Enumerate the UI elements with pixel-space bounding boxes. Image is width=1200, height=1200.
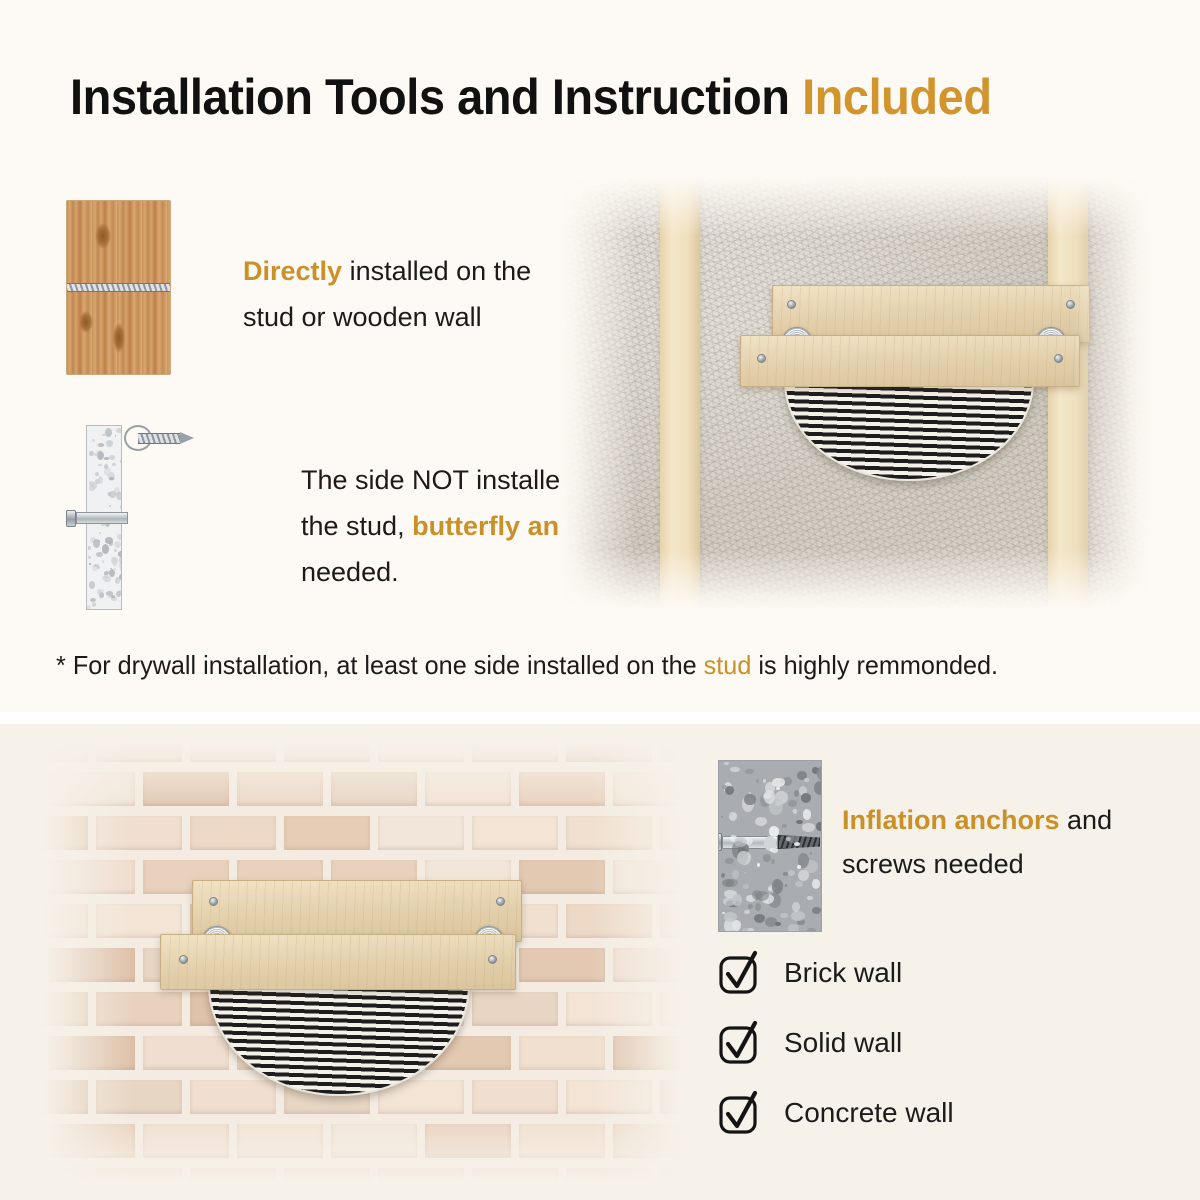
- brick: [42, 904, 88, 938]
- hammock-front-board: [160, 934, 516, 990]
- brick: [566, 992, 652, 1026]
- concrete-aggregate: [755, 903, 761, 911]
- board-screw: [757, 354, 766, 363]
- brick: [613, 948, 682, 982]
- drywall-speckle: [102, 434, 106, 437]
- brick: [566, 904, 652, 938]
- drywall-speckle: [115, 435, 117, 437]
- concrete-aggregate: [724, 762, 729, 765]
- concrete-aggregate: [725, 858, 734, 864]
- checkbox-checked-icon[interactable]: [718, 951, 762, 995]
- board-screw: [179, 955, 188, 964]
- section-divider: [0, 712, 1200, 724]
- brick: [519, 772, 605, 806]
- screw-thread: [138, 433, 180, 444]
- drywall-speckle: [109, 569, 115, 577]
- concrete-aggregate: [791, 911, 805, 921]
- drywall-speckle: [98, 464, 102, 467]
- concrete-aggregate: [785, 884, 788, 887]
- screw-tip: [180, 432, 194, 444]
- checklist-item-label: Brick wall: [784, 957, 902, 989]
- brick: [49, 1124, 135, 1158]
- hammock-fabric: [208, 984, 470, 1096]
- concrete-aggregate: [732, 870, 739, 879]
- brick: [237, 1124, 323, 1158]
- drywall-speckle: [117, 534, 123, 540]
- concrete-aggregate: [729, 813, 733, 815]
- concrete-aggregate: [783, 777, 792, 786]
- anchor-sleeve: [76, 512, 128, 524]
- brick: [472, 816, 558, 850]
- page-title: Installation Tools and Instruction Inclu…: [70, 68, 1076, 126]
- brick: [519, 860, 605, 894]
- brick: [566, 816, 652, 850]
- concrete-aggregate: [743, 884, 749, 889]
- concrete-aggregate: [796, 820, 803, 824]
- bullet-direct-stud-text: Directly installed on the stud or wooden…: [243, 248, 573, 340]
- concrete-aggregate: [812, 907, 821, 915]
- brick: [284, 816, 370, 850]
- drywall-speckle: [106, 440, 113, 447]
- brick: [472, 742, 558, 762]
- board-screw: [496, 897, 505, 906]
- concrete-aggregate: [772, 879, 783, 894]
- drywall-speckle: [89, 563, 91, 565]
- board-screw: [488, 955, 497, 964]
- drywall-speckle: [120, 460, 122, 463]
- concrete-expansion-anchor-icon: [718, 760, 822, 932]
- brick: [613, 1036, 682, 1070]
- brick: [49, 1036, 135, 1070]
- drywall-speckle: [105, 428, 112, 437]
- drywall-speckle: [94, 564, 99, 567]
- concrete-aggregate: [788, 924, 800, 932]
- drywall-speckle: [121, 577, 122, 579]
- concrete-aggregate: [807, 896, 812, 900]
- concrete-aggregate: [805, 928, 818, 932]
- concrete-aggregate: [742, 928, 750, 932]
- checkbox-checked-icon[interactable]: [718, 1021, 762, 1065]
- concrete-aggregate: [803, 809, 811, 819]
- drywall-speckle: [109, 455, 115, 460]
- brick: [143, 772, 229, 806]
- checklist-item-brick-wall[interactable]: Brick wall: [718, 938, 954, 1008]
- drywall-speckle: [114, 568, 116, 570]
- concrete-aggregate: [788, 870, 795, 876]
- wall-type-checklist: Brick wall Solid wall Concrete wall: [718, 938, 954, 1148]
- brick: [519, 1036, 605, 1070]
- screw-thread: [66, 283, 171, 292]
- drywall-speckle: [98, 476, 103, 483]
- concrete-aggregate: [776, 787, 779, 789]
- concrete-aggregate: [797, 865, 801, 869]
- bullet-direct-stud-install: Directly installed on the stud or wooden…: [66, 200, 573, 375]
- drywall-speckle: [97, 451, 104, 460]
- board-screw: [787, 300, 796, 309]
- concrete-aggregate: [810, 852, 812, 855]
- page-title-accent: Included: [802, 69, 991, 125]
- concrete-aggregate: [795, 881, 803, 887]
- brick: [49, 948, 135, 982]
- drywall-speckle: [95, 472, 99, 476]
- drywall-speckle: [110, 568, 112, 569]
- footnote-lead: * For drywall installation, at least one…: [56, 650, 704, 680]
- brick: [613, 772, 682, 806]
- brick: [613, 1124, 682, 1158]
- drywall-speckle: [116, 492, 122, 500]
- brick: [96, 1168, 182, 1182]
- brick: [566, 1080, 652, 1114]
- drywall-speckle: [92, 482, 97, 488]
- concrete-aggregate: [748, 904, 753, 908]
- hammock-fabric: [784, 381, 1034, 481]
- footnote-accent: stud: [704, 650, 752, 680]
- concrete-aggregate: [798, 870, 808, 881]
- drywall-speckle: [116, 591, 121, 597]
- drywall-speckle: [96, 552, 103, 558]
- concrete-aggregate: [788, 800, 797, 807]
- wood-knot-icon: [113, 323, 125, 353]
- brick: [472, 1168, 558, 1182]
- brick: [143, 1124, 229, 1158]
- checklist-item-label: Solid wall: [784, 1027, 902, 1059]
- checklist-item-concrete-wall[interactable]: Concrete wall: [718, 1078, 954, 1148]
- board-screw: [209, 897, 218, 906]
- footnote-tail: is highly remmonded.: [751, 650, 998, 680]
- brick: [42, 1168, 88, 1182]
- hammock-assembly: [740, 285, 1090, 515]
- brick: [378, 816, 464, 850]
- bullet-accent-word: Directly: [243, 256, 342, 286]
- drywall-speckle: [118, 551, 122, 557]
- drywall-speckle: [99, 532, 101, 534]
- brick: [190, 742, 276, 762]
- concrete-aggregate: [725, 786, 734, 795]
- drywall-speckle: [92, 439, 94, 442]
- brick: [237, 772, 323, 806]
- infographic-page: Installation Tools and Instruction Inclu…: [0, 0, 1200, 1200]
- brick: [49, 860, 135, 894]
- concrete-aggregate: [730, 767, 740, 772]
- brick: [566, 742, 652, 762]
- concrete-aggregate: [804, 778, 809, 782]
- concrete-aggregate: [771, 848, 778, 853]
- concrete-aggregate: [783, 872, 787, 876]
- drywall-speckle: [114, 541, 121, 548]
- concrete-aggregate: [814, 781, 822, 795]
- wall-stud-left: [660, 175, 700, 610]
- screw-icon: [66, 279, 171, 295]
- concrete-aggregate: [722, 785, 726, 789]
- concrete-aggregate: [754, 914, 765, 923]
- concrete-aggregate: [744, 794, 755, 805]
- anchor-screw-icon: [138, 431, 194, 445]
- brick: [284, 742, 370, 762]
- brick: [660, 904, 682, 938]
- concrete-aggregate: [780, 913, 788, 918]
- wood-knot-icon: [95, 223, 111, 249]
- concrete-aggregate: [752, 890, 762, 900]
- checklist-item-label: Concrete wall: [784, 1097, 954, 1129]
- brick: [378, 742, 464, 762]
- checklist-item-solid-wall[interactable]: Solid wall: [718, 1008, 954, 1078]
- drywall-butterfly-anchor-icon: [66, 425, 196, 610]
- wood-knot-icon: [79, 311, 93, 333]
- bullet-butterfly-anchor: The side NOT installed on the stud, butt…: [66, 425, 631, 610]
- brick: [284, 1168, 370, 1182]
- brick: [331, 772, 417, 806]
- concrete-aggregate: [721, 816, 723, 818]
- concrete-aggregate: [745, 769, 753, 774]
- brick: [42, 992, 88, 1026]
- concrete-aggregate: [737, 851, 751, 866]
- board-screw: [1054, 354, 1063, 363]
- brick: [613, 860, 682, 894]
- brick: [96, 742, 182, 762]
- drywall-speckle: [112, 463, 116, 466]
- concrete-aggregate: [817, 766, 822, 781]
- bullet-tail-text: needed.: [301, 557, 399, 587]
- brick: [425, 1124, 511, 1158]
- hammock-front-board: [740, 335, 1080, 387]
- drywall-speckle: [88, 556, 91, 559]
- concrete-aggregate: [782, 824, 788, 828]
- drywall-speckle: [93, 539, 100, 548]
- drywall-speckle: [87, 605, 91, 609]
- concrete-aggregate: [812, 879, 820, 889]
- wood-panel-with-screw-icon: [66, 200, 171, 375]
- cat-hammock-on-brick-wall-photo: [42, 742, 682, 1182]
- brick: [566, 1168, 652, 1182]
- drywall-speckle: [105, 537, 112, 544]
- brick: [660, 1168, 682, 1182]
- drywall-speckle: [120, 577, 122, 580]
- brick: [378, 1168, 464, 1182]
- brick: [425, 772, 511, 806]
- brick: [660, 1080, 682, 1114]
- cat-hammock-on-stud-wall-photo: [560, 175, 1150, 610]
- drywall-speckle: [102, 560, 105, 563]
- drywall-speckle: [92, 602, 96, 607]
- concrete-aggregate: [775, 922, 781, 926]
- anchor-bolt-head: [66, 510, 76, 527]
- brick: [660, 742, 682, 762]
- concrete-aggregate: [801, 793, 811, 802]
- drywall-speckle: [116, 428, 122, 433]
- brick: [96, 816, 182, 850]
- brick: [190, 1168, 276, 1182]
- brick: [519, 1124, 605, 1158]
- concrete-aggregate: [757, 863, 760, 867]
- drywall-speckle: [102, 544, 109, 553]
- concrete-note-accent: Inflation anchors: [842, 805, 1060, 835]
- concrete-aggregate: [786, 837, 791, 841]
- checkbox-checked-icon[interactable]: [718, 1091, 762, 1135]
- drywall-speckle: [109, 477, 114, 480]
- drywall-speckle: [115, 577, 120, 584]
- concrete-aggregate: [721, 873, 725, 878]
- concrete-aggregate: [771, 859, 775, 864]
- concrete-aggregate: [756, 779, 759, 784]
- footnote-note: * For drywall installation, at least one…: [56, 650, 1133, 681]
- brick: [660, 992, 682, 1026]
- brick: [42, 742, 88, 762]
- drywall-speckle: [119, 556, 122, 564]
- page-title-main: Installation Tools and Instruction: [70, 69, 802, 125]
- board-screw: [1066, 300, 1075, 309]
- drywall-speckle: [104, 571, 109, 575]
- concrete-aggregate: [802, 823, 815, 832]
- concrete-anchor-note: Inflation anchors and screws needed: [842, 798, 1162, 886]
- concrete-aggregate: [732, 894, 742, 907]
- brick: [190, 816, 276, 850]
- hammock-back-board: [192, 880, 522, 942]
- brick: [49, 772, 135, 806]
- concrete-aggregate: [755, 817, 767, 826]
- brick: [42, 816, 88, 850]
- concrete-aggregate: [763, 854, 770, 863]
- brick: [42, 1080, 88, 1114]
- drywall-speckle: [88, 546, 91, 549]
- concrete-aggregate: [722, 879, 734, 887]
- concrete-aggregate: [772, 778, 785, 788]
- hammock-assembly: [160, 880, 530, 1120]
- drywall-speckle: [114, 549, 118, 552]
- butterfly-anchor-icon: [66, 505, 194, 531]
- brick: [519, 948, 605, 982]
- concrete-aggregate: [793, 809, 798, 814]
- concrete-aggregate: [734, 837, 747, 847]
- brick: [331, 1124, 417, 1158]
- concrete-aggregate: [744, 872, 746, 874]
- drywall-speckle: [111, 597, 116, 600]
- concrete-aggregate: [744, 910, 749, 914]
- concrete-aggregate: [816, 822, 822, 831]
- concrete-aggregate: [763, 779, 767, 783]
- brick: [660, 816, 682, 850]
- concrete-aggregate: [764, 790, 775, 804]
- drywall-speckle: [89, 581, 95, 589]
